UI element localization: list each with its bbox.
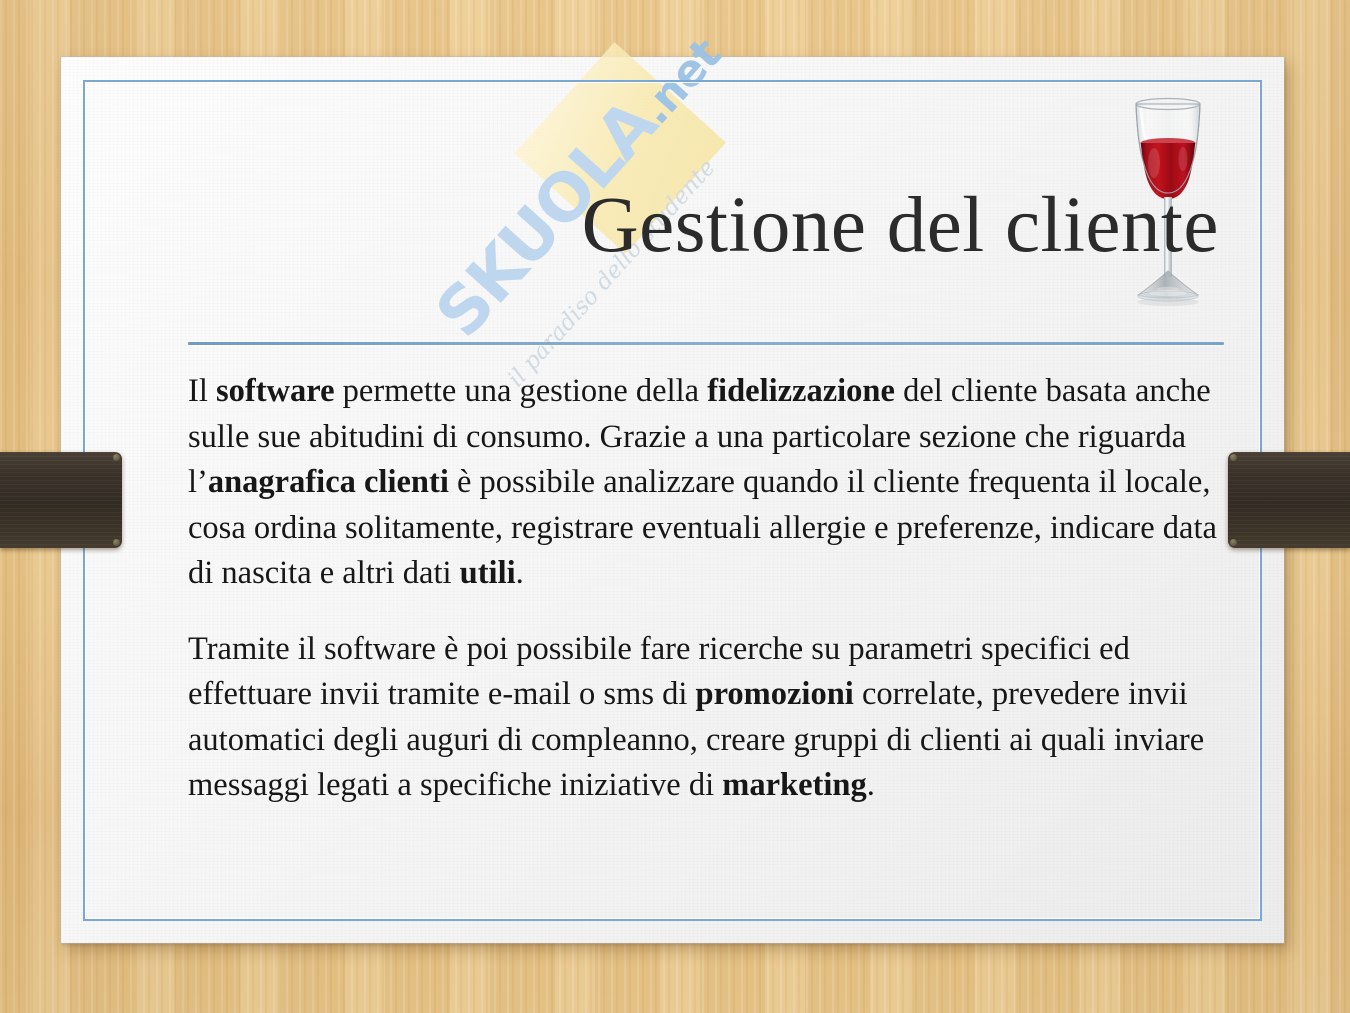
leather-strap-left [0, 452, 122, 548]
paragraph-2: Tramite il software è poi possibile fare… [188, 627, 1228, 809]
strap-stud-icon [113, 539, 120, 546]
strap-stud-icon [113, 454, 120, 461]
plain-text: . [516, 555, 524, 591]
title-divider [188, 342, 1224, 345]
strap-stud-icon [1230, 539, 1237, 546]
plain-text: Il [188, 373, 216, 409]
emphasis-text: promozioni [696, 676, 854, 712]
plain-text: . [867, 767, 875, 803]
emphasis-text: anagrafica clienti [208, 464, 449, 500]
leather-strap-right [1228, 452, 1350, 548]
plain-text: permette una gestione della [335, 373, 708, 409]
presentation-stage: SKUOLA.net il paradiso dello studente [0, 0, 1350, 1013]
paragraph-1: Il software permette una gestione della … [188, 369, 1228, 597]
emphasis-text: fidelizzazione [707, 373, 895, 409]
strap-stud-icon [1230, 454, 1237, 461]
emphasis-text: utili [460, 555, 516, 591]
emphasis-text: marketing [722, 767, 866, 803]
slide-card: SKUOLA.net il paradiso dello studente [61, 57, 1284, 943]
page-title: Gestione del cliente [187, 185, 1285, 267]
body-text-block: Il software permette una gestione della … [188, 369, 1228, 809]
emphasis-text: software [216, 373, 335, 409]
slide-content: Gestione del cliente Il software permett… [61, 57, 1284, 943]
